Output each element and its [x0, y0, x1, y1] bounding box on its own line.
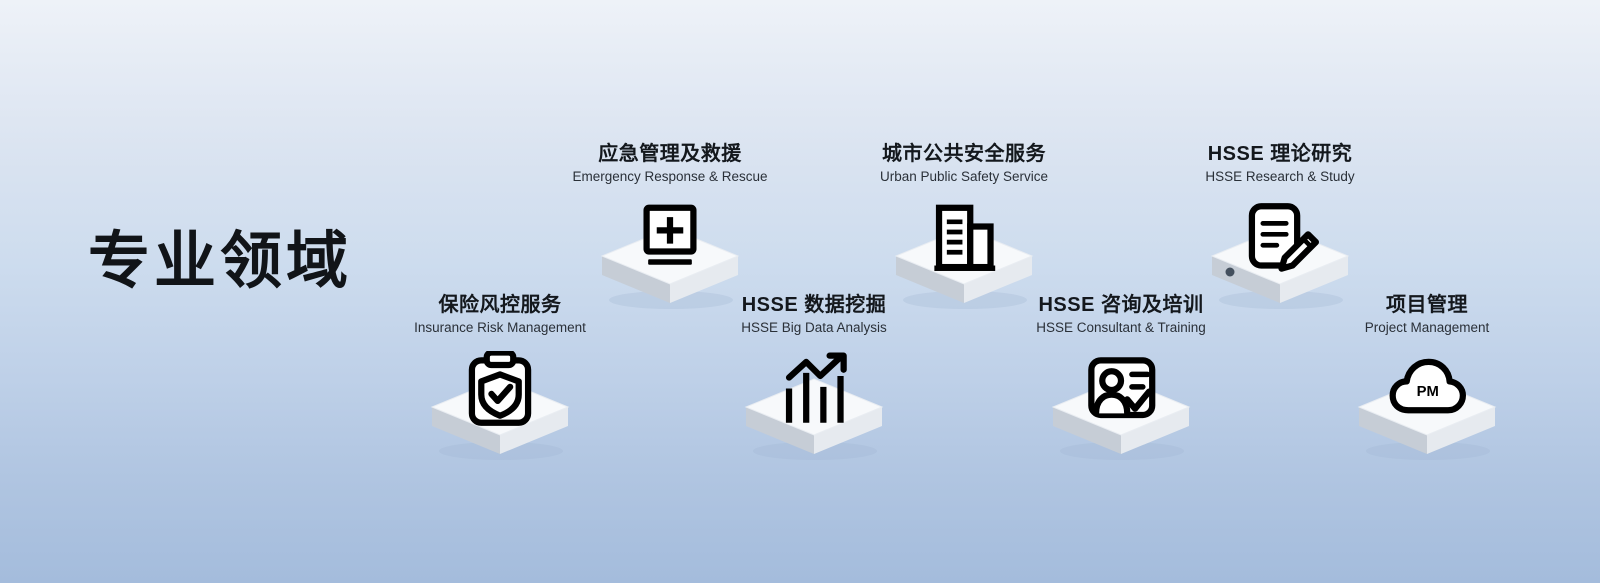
page-title: 专业领域: [88, 228, 352, 296]
domain-card-title-en: HSSE Research & Study: [1150, 169, 1410, 186]
domain-card-icon-pedestal: [991, 351, 1251, 463]
city-buildings-icon: [925, 200, 1003, 278]
domain-card-emergency-response-rescue[interactable]: 应急管理及救援Emergency Response & Rescue: [540, 143, 800, 312]
first-aid-monitor-icon: [631, 200, 709, 278]
clipboard-shield-check-icon: [461, 351, 539, 429]
domain-card-hsse-consultant-training[interactable]: HSSE 咨询及培训HSSE Consultant & Training: [991, 294, 1251, 463]
domain-card-title-en: Insurance Risk Management: [370, 320, 630, 337]
domain-card-title-zh: 城市公共安全服务: [834, 143, 1094, 166]
domain-card-icon-pedestal: [370, 351, 630, 463]
domain-card-hsse-big-data-analysis[interactable]: HSSE 数据挖掘HSSE Big Data Analysis: [684, 294, 944, 463]
bar-chart-trend-icon: [775, 351, 853, 429]
domain-card-title-zh: 应急管理及救援: [540, 143, 800, 166]
document-pencil-icon: [1241, 200, 1319, 278]
domain-card-title-en: Urban Public Safety Service: [834, 169, 1094, 186]
domain-card-title-zh: HSSE 数据挖掘: [684, 294, 944, 317]
domain-card-title-zh: HSSE 咨询及培训: [991, 294, 1251, 317]
domain-card-title-en: Project Management: [1297, 320, 1557, 337]
cloud-pm-icon: PM: [1388, 351, 1466, 429]
cloud-pm-label: PM: [1417, 384, 1439, 400]
pedestal-dot: [1226, 267, 1235, 276]
domain-card-hsse-research-study[interactable]: HSSE 理论研究HSSE Research & Study: [1150, 143, 1410, 312]
domain-card-urban-public-safety-service[interactable]: 城市公共安全服务Urban Public Safety Service: [834, 143, 1094, 312]
domain-card-title-en: Emergency Response & Rescue: [540, 169, 800, 186]
domain-card-title-en: HSSE Consultant & Training: [991, 320, 1251, 337]
domain-card-insurance-risk-management[interactable]: 保险风控服务Insurance Risk Management: [370, 294, 630, 463]
domain-card-icon-pedestal: PM: [1297, 351, 1557, 463]
professional-domains-banner: 专业领域 应急管理及救援Emergency Response & Rescue …: [0, 0, 1600, 583]
domain-card-title-en: HSSE Big Data Analysis: [684, 320, 944, 337]
domain-card-title-zh: 项目管理: [1297, 294, 1557, 317]
domain-card-icon-pedestal: [684, 351, 944, 463]
domain-card-title-zh: 保险风控服务: [370, 294, 630, 317]
domain-card-title-zh: HSSE 理论研究: [1150, 143, 1410, 166]
id-card-person-check-icon: [1082, 351, 1160, 429]
domain-card-project-management[interactable]: 项目管理Project Management PM: [1297, 294, 1557, 463]
